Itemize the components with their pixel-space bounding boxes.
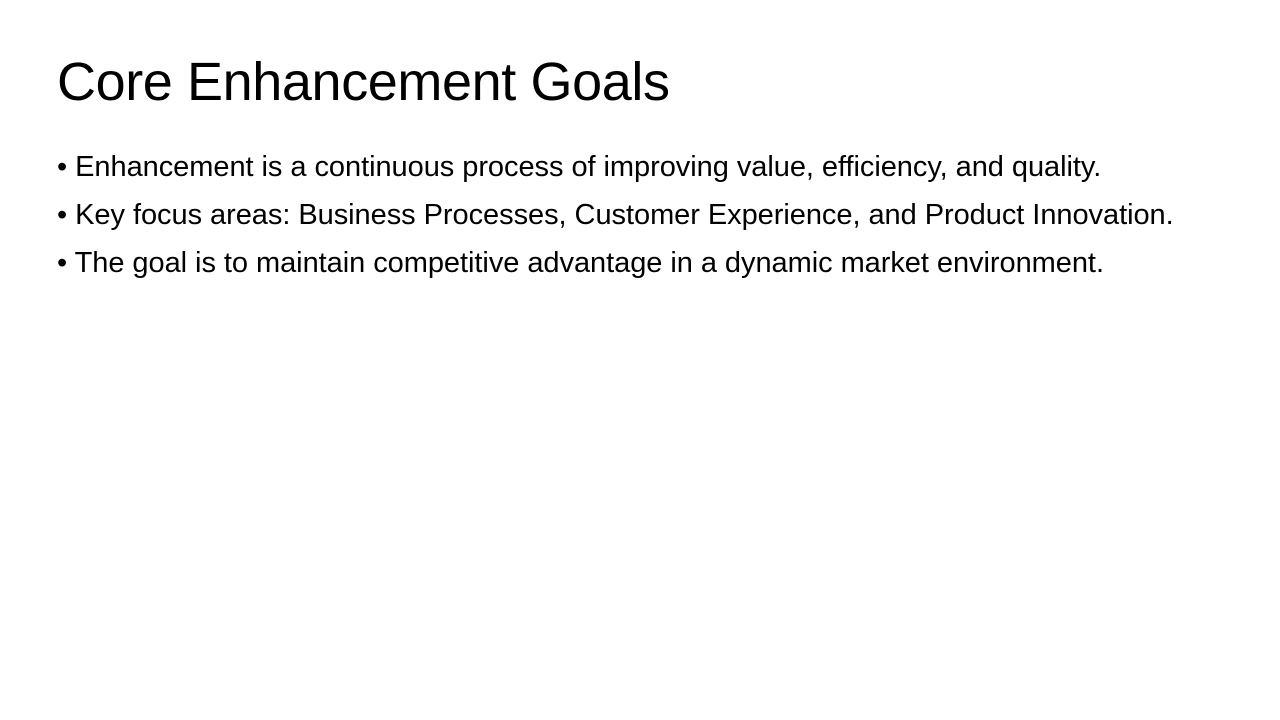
- bullet-point-icon: •: [57, 151, 67, 183]
- slide-body-text: • Enhancement is a continuous process of…: [57, 148, 1225, 282]
- bullet-point-icon: •: [57, 247, 67, 279]
- bullet-point-icon: •: [57, 199, 67, 231]
- bullet-paragraph: • Enhancement is a continuous process of…: [57, 148, 1225, 186]
- page-title: Core Enhancement Goals: [57, 51, 1227, 114]
- bullet-paragraph: • Key focus areas: Business Processes, C…: [57, 196, 1225, 234]
- bullet-text: The goal is to maintain competitive adva…: [75, 247, 1104, 279]
- bullet-text: Key focus areas: Business Processes, Cus…: [75, 199, 1174, 231]
- presentation-slide: Core Enhancement Goals • Enhancement is …: [0, 0, 1280, 720]
- bullet-paragraph: • The goal is to maintain competitive ad…: [57, 244, 1225, 282]
- bullet-text: Enhancement is a continuous process of i…: [75, 151, 1101, 183]
